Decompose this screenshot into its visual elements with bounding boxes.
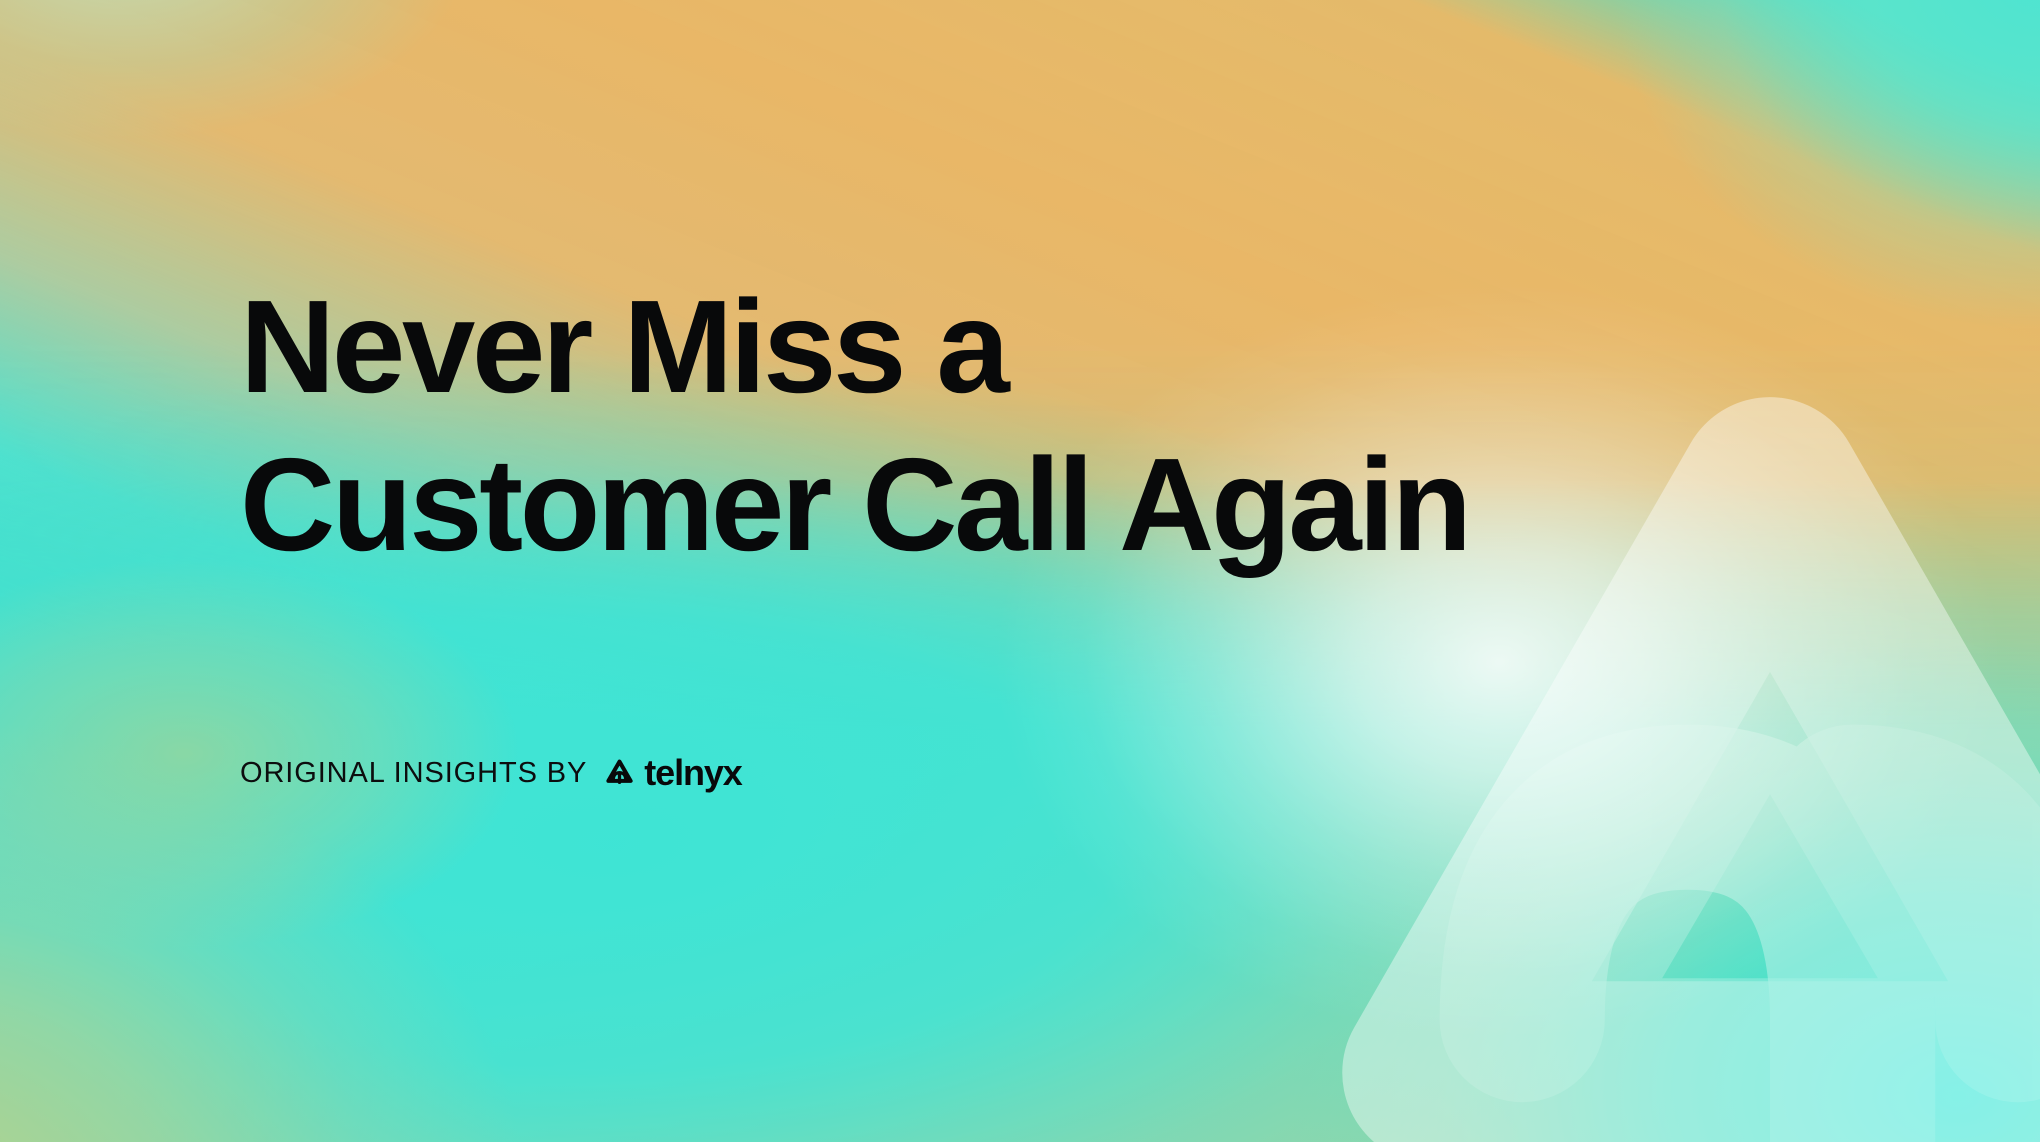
telnyx-logo-lockup: telnyx <box>601 755 741 792</box>
telnyx-triangle-knot-logo <box>601 755 638 792</box>
hero-content: Never Miss a Customer Call Again ORIGINA… <box>240 0 1640 1142</box>
hero-banner: Never Miss a Customer Call Again ORIGINA… <box>0 0 2040 1142</box>
byline: ORIGINAL INSIGHTS BY telnyx <box>240 752 742 794</box>
byline-label: ORIGINAL INSIGHTS BY <box>240 752 587 794</box>
telnyx-wordmark: telnyx <box>644 755 741 791</box>
page-title: Never Miss a Customer Call Again <box>240 268 1580 584</box>
